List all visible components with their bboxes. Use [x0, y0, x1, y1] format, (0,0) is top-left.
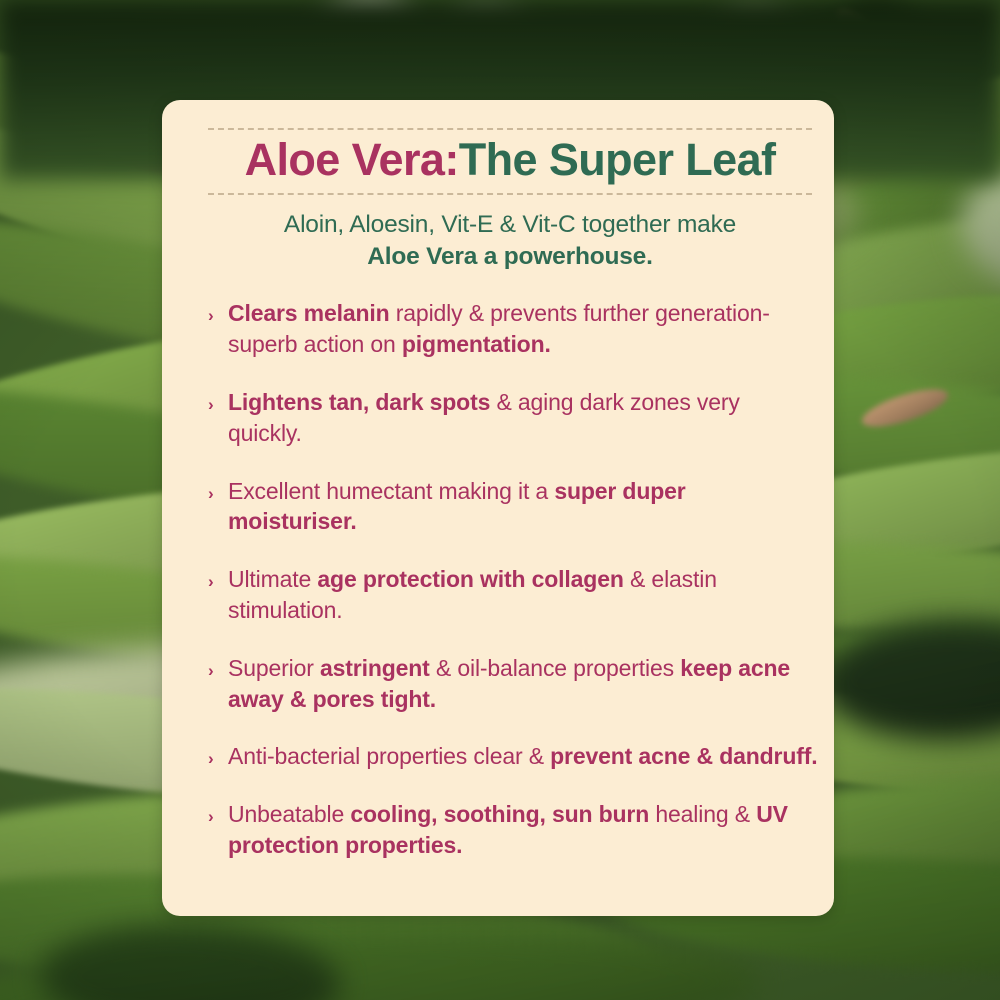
benefit-text: Excellent humectant making it a super du…	[228, 476, 818, 538]
chevron-right-icon: ›	[208, 476, 228, 502]
title-block: Aloe Vera:The Super Leaf	[208, 128, 812, 195]
benefit-text: Ultimate age protection with collagen & …	[228, 564, 818, 626]
benefit-text: Clears melanin rapidly & prevents furthe…	[228, 298, 818, 360]
benefit-item: ›Unbeatable cooling, soothing, sun burn …	[208, 799, 818, 861]
chevron-right-icon: ›	[208, 298, 228, 324]
card-content: Aloe Vera:The Super Leaf Aloin, Aloesin,…	[208, 128, 814, 861]
subtitle: Aloin, Aloesin, Vit-E & Vit-C together m…	[208, 209, 812, 275]
chevron-right-icon: ›	[208, 564, 228, 590]
chevron-right-icon: ›	[208, 799, 228, 825]
benefit-text: Unbeatable cooling, soothing, sun burn h…	[228, 799, 818, 861]
chevron-right-icon: ›	[208, 387, 228, 413]
benefit-text: Lightens tan, dark spots & aging dark zo…	[228, 387, 818, 449]
title-part-primary: Aloe Vera:	[245, 134, 459, 185]
chevron-right-icon: ›	[208, 653, 228, 679]
benefit-text: Anti-bacterial properties clear & preven…	[228, 741, 818, 772]
benefit-item: ›Clears melanin rapidly & prevents furth…	[208, 298, 818, 360]
benefit-text: Superior astringent & oil-balance proper…	[228, 653, 818, 715]
info-card: Aloe Vera:The Super Leaf Aloin, Aloesin,…	[162, 100, 834, 916]
subtitle-line-2: Aloe Vera a powerhouse.	[367, 243, 652, 270]
subtitle-line-1: Aloin, Aloesin, Vit-E & Vit-C together m…	[284, 211, 736, 238]
benefit-item: ›Ultimate age protection with collagen &…	[208, 564, 818, 626]
benefit-item: ›Superior astringent & oil-balance prope…	[208, 653, 818, 715]
benefit-item: ›Anti-bacterial properties clear & preve…	[208, 741, 818, 772]
benefit-item: ›Lightens tan, dark spots & aging dark z…	[208, 387, 818, 449]
benefits-list: ›Clears melanin rapidly & prevents furth…	[208, 298, 818, 861]
chevron-right-icon: ›	[208, 741, 228, 767]
benefit-item: ›Excellent humectant making it a super d…	[208, 476, 818, 538]
title-part-secondary: The Super Leaf	[459, 134, 776, 185]
page-title: Aloe Vera:The Super Leaf	[208, 136, 812, 185]
